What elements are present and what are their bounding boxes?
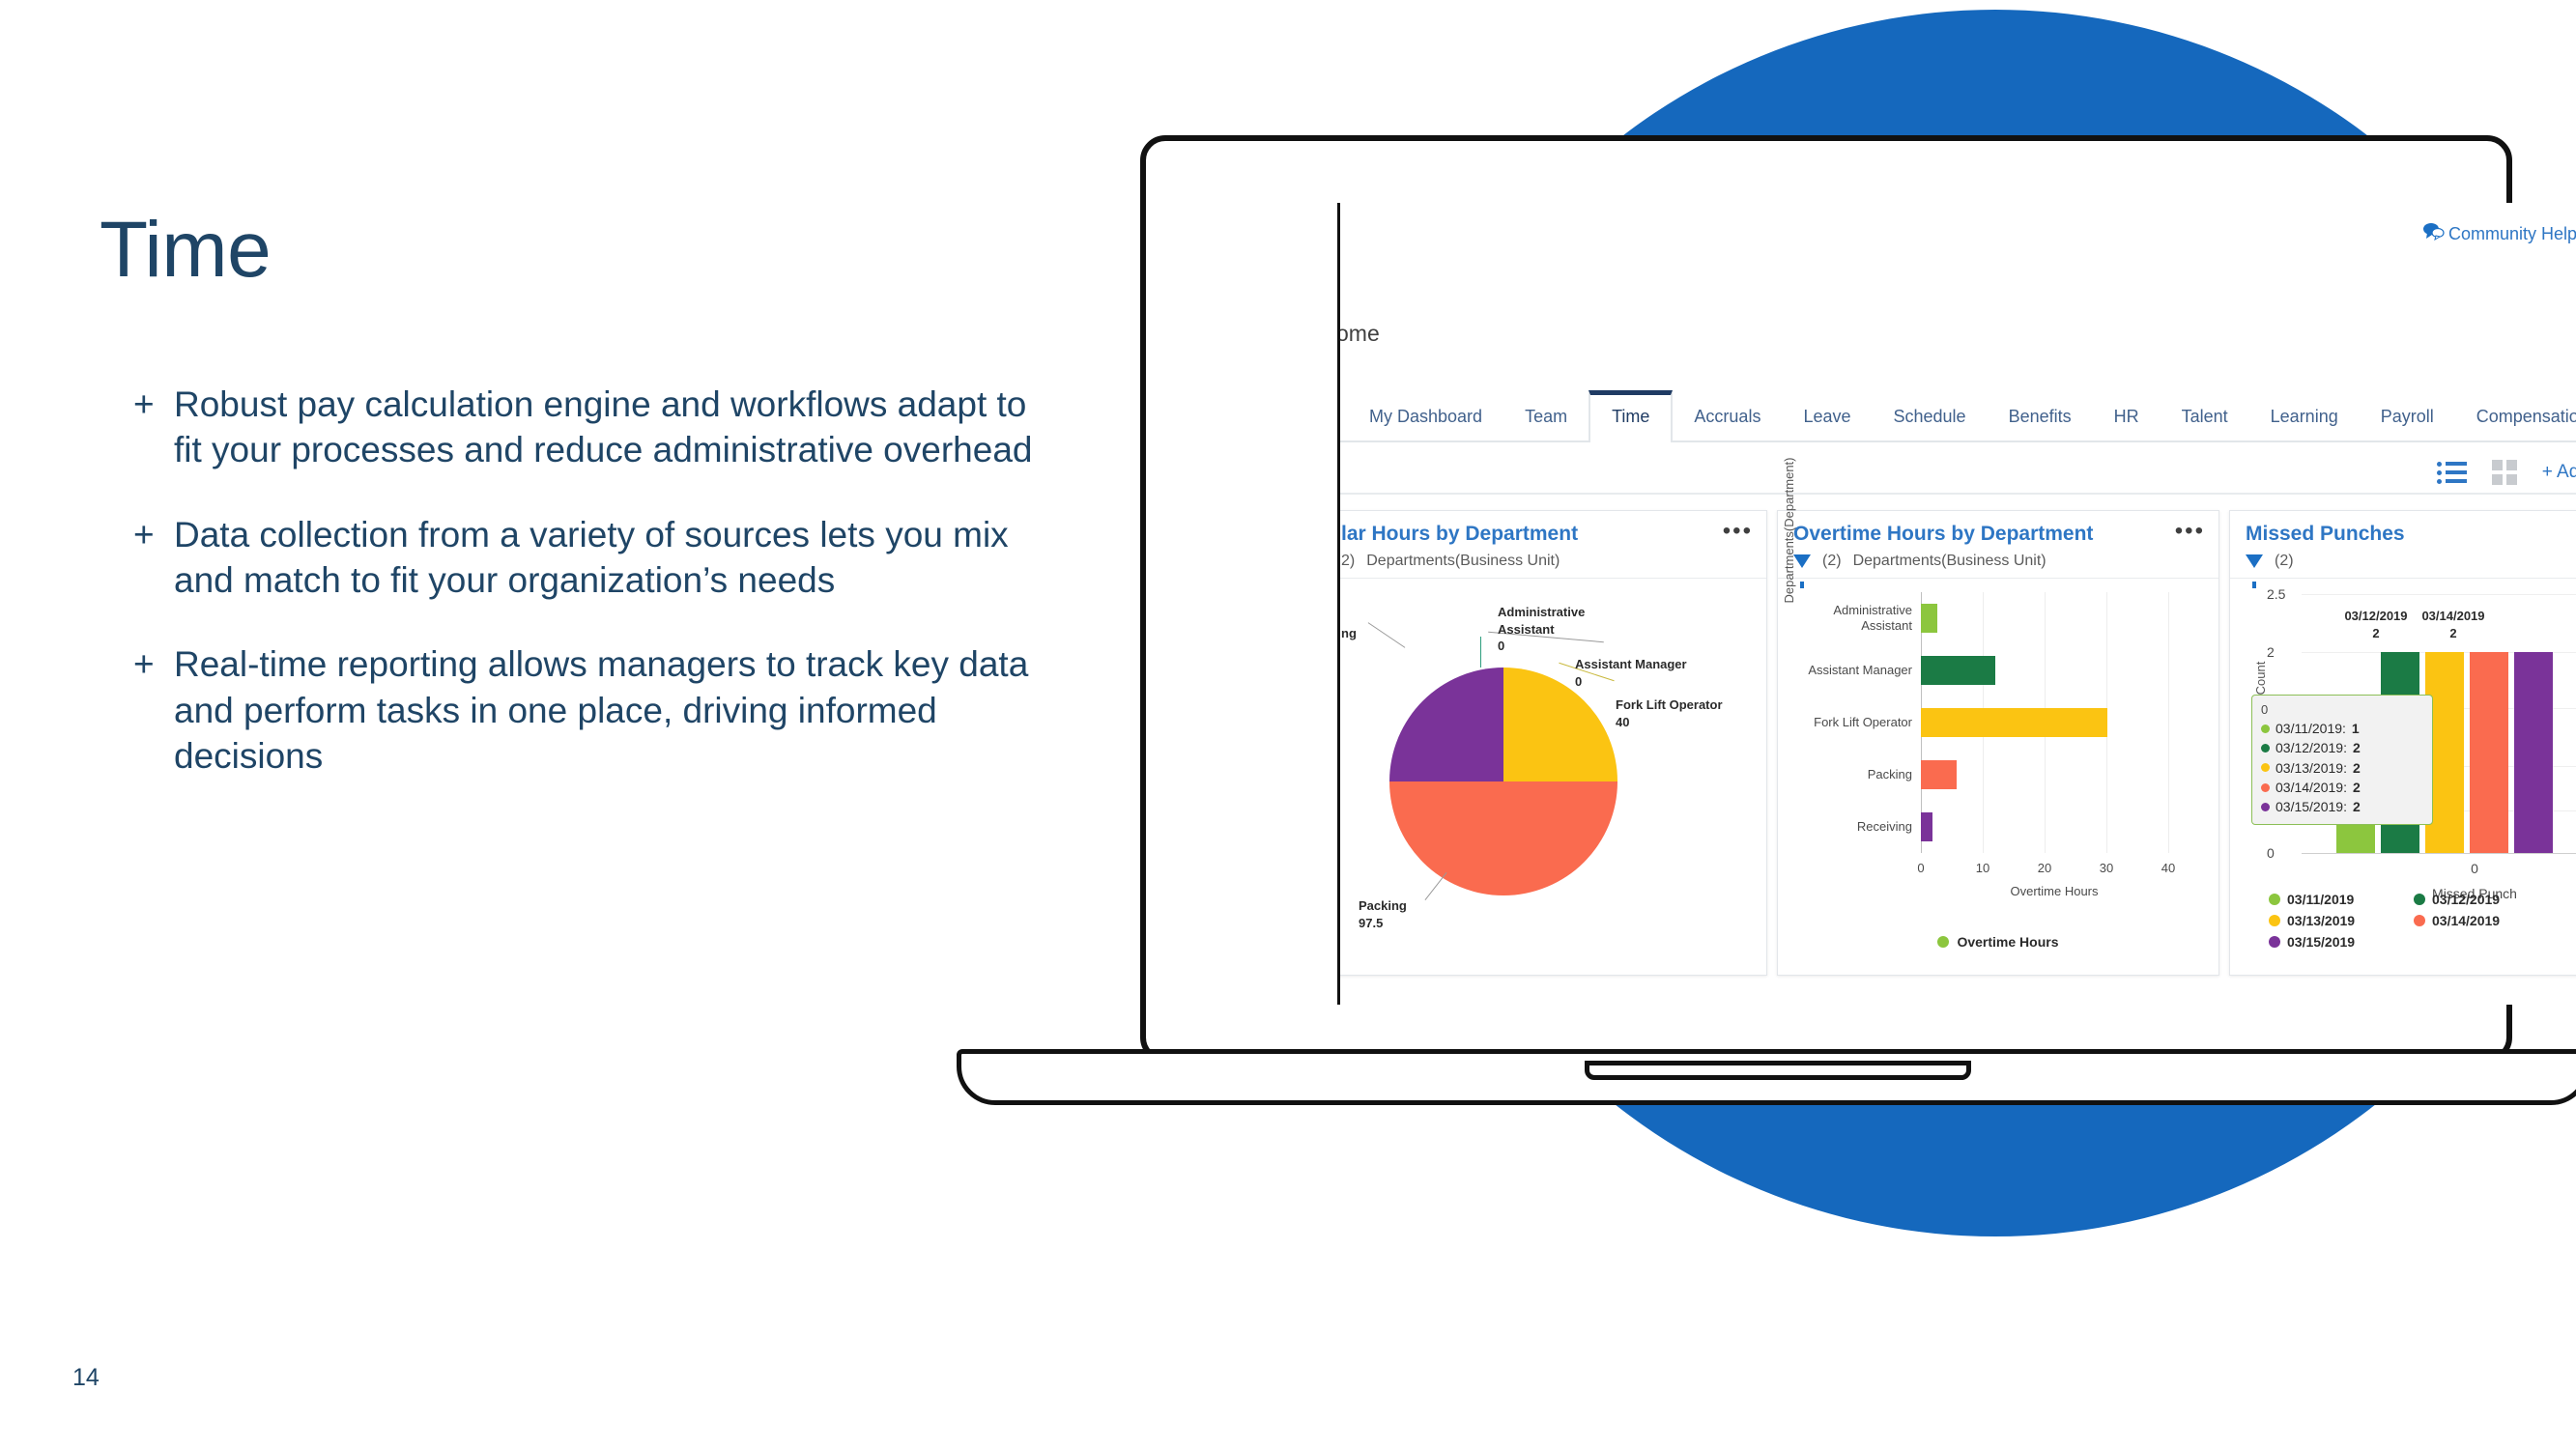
x-tick: 40 [2161,861,2175,875]
breadcrumb: ome [1337,321,1380,347]
filter-count: 2) [1341,553,1355,570]
card-header: lar Hours by Department 2) Departments(B… [1337,511,1766,578]
card-more-icon[interactable]: ••• [1723,525,1753,538]
card-header: Missed Punches (2) [2230,511,2576,578]
bar-row: Assistant Manager [1807,644,2213,696]
legend-label: Overtime Hours [1957,934,2058,950]
tooltip-row: 03/11/2019:1 [2261,719,2423,738]
filter-count: (2) [2275,553,2294,570]
page-number: 14 [72,1364,100,1392]
overtime-bar-chart: Departments(Department) Administrative A… [1778,579,2218,963]
tab-benefits[interactable]: Benefits [1988,407,2093,440]
x-tick: 0 [1917,861,1924,875]
tab-time[interactable]: Time [1589,390,1673,442]
page-title: Time [100,211,271,290]
pie-label-receiving: ng [1341,625,1357,642]
laptop-screen: Community Help 26 [1337,203,2576,1005]
bar [1921,708,2107,737]
y-tick: 2.5 [2267,586,2285,602]
tooltip-title: 0 [2261,702,2423,717]
card-header: Overtime Hours by Department (2) Departm… [1778,511,2218,578]
card-filter-row: (2) [2246,553,2576,570]
chart-cards-row: lar Hours by Department 2) Departments(B… [1337,510,2576,976]
legend-item: 03/15/2019 [2269,934,2414,950]
chart-tooltip: 0 03/11/2019:1 03/12/2019:2 03/13/2019:2… [2251,695,2433,825]
bar-label: Assistant Manager [1807,663,1921,678]
x-axis-label: Overtime Hours [1921,884,2188,898]
bar-row: Fork Lift Operator [1807,696,2213,749]
pie-graphic [1389,668,1617,895]
chart-toolbar: + Add Chart •• [2437,452,2576,493]
y-tick: 0 [2267,845,2275,861]
app-topbar: Community Help 26 [2422,214,2576,253]
chat-bubble-icon [2422,222,2446,245]
bullet-marker: + [114,512,174,604]
chart-legend: Overtime Hours [1778,934,2218,950]
tooltip-row: 03/13/2019:2 [2261,758,2423,778]
bar-label: Fork Lift Operator [1807,715,1921,730]
x-axis-line [2302,853,2576,854]
nav-tabs: My Dashboard Team Time Accruals Leave Sc… [1337,389,2576,442]
bar-label: Packing [1807,767,1921,782]
pie-label-assistant-manager: Assistant Manager0 [1575,656,1701,690]
bar [1921,656,1995,685]
tab-my-dashboard[interactable]: My Dashboard [1348,407,1503,440]
card-more-icon[interactable]: ••• [2175,525,2205,538]
bullet-text: Data collection from a variety of source… [174,512,1042,604]
bar [2470,652,2508,853]
leader-line [1425,872,1447,900]
laptop-mockup: Community Help 26 [966,135,2338,1082]
card-filter-row: 2) Departments(Business Unit) [1341,553,1751,570]
bullet-list: + Robust pay calculation engine and work… [114,382,1042,818]
x-tick: 30 [2100,861,2113,875]
x-tick: 20 [2038,861,2051,875]
tab-team[interactable]: Team [1503,407,1589,440]
tab-schedule[interactable]: Schedule [1873,407,1988,440]
bar-row: Packing [1807,749,2213,801]
pie-chart: Administrative Assistant0 Assistant Mana… [1337,579,1766,963]
missed-punches-bar-chart: Row Count 2.5 2 1.5 0.5 0 [2230,579,2576,963]
bar-label: Administrative Assistant [1807,603,1921,633]
tab-compensation[interactable]: Compensation [2455,407,2576,440]
card-title: Missed Punches [2246,523,2576,546]
bar-row: Administrative Assistant [1807,592,2213,644]
x-axis-ticks: 0 10 20 30 40 [1921,861,2188,880]
toolbar-divider [1337,493,2576,495]
tab-accruals[interactable]: Accruals [1673,407,1782,440]
bullet-text: Real-time reporting allows managers to t… [174,641,1042,779]
x-tick: 10 [1976,861,1989,875]
bullet-marker: + [114,382,174,473]
bullet-marker: + [114,641,174,779]
card-title: Overtime Hours by Department [1793,523,2203,546]
pie-label-fork-lift-operator: Fork Lift Operator40 [1616,696,1751,730]
filter-count: (2) [1822,553,1842,570]
list-item: + Robust pay calculation engine and work… [114,382,1042,473]
legend-dot [1937,936,1949,948]
bar [1921,604,1937,633]
tooltip-row: 03/12/2019:2 [2261,738,2423,757]
list-view-icon[interactable] [2437,462,2467,484]
y-axis-label: Departments(Department) [1782,424,1796,637]
card-regular-hours[interactable]: lar Hours by Department 2) Departments(B… [1337,510,1767,976]
pie-label-packing: Packing97.5 [1359,897,1474,931]
legend-item: 03/11/2019 [2269,892,2414,907]
tooltip-row: 03/14/2019:2 [2261,778,2423,797]
community-help-link[interactable]: Community Help [2422,222,2576,245]
leader-line [1480,637,1482,668]
card-missed-punches[interactable]: Missed Punches (2) ••• Row Count 2.5 [2229,510,2576,976]
tab-talent[interactable]: Talent [2161,407,2249,440]
bar [2514,652,2553,853]
filter-label: Departments(Business Unit) [1853,553,2046,570]
pie-label-administrative-assistant: Administrative Assistant0 [1498,604,1643,655]
legend-item: 03/13/2019 [2269,913,2414,928]
y-tick: 2 [2267,644,2275,660]
tab-hr[interactable]: HR [2093,407,2161,440]
card-title: lar Hours by Department [1341,523,1751,546]
bar [1921,760,1957,789]
laptop-lid: Community Help 26 [1140,135,2512,1063]
legend-item: 03/14/2019 [2414,913,2559,928]
legend-item: 03/12/2019 [2414,892,2559,907]
laptop-trackpad-notch [1585,1061,1971,1080]
list-item: + Real-time reporting allows managers to… [114,641,1042,779]
filter-icon[interactable] [2246,554,2263,568]
card-overtime-hours[interactable]: Overtime Hours by Department (2) Departm… [1777,510,2219,976]
chart-legend: 03/11/2019 03/12/2019 03/13/2019 03/14/2… [2269,892,2576,955]
bar [1921,812,1932,841]
bar-row: Receiving [1807,801,2213,853]
tab-learning[interactable]: Learning [2249,407,2360,440]
hr-dashboard-app: Community Help 26 [1337,203,2576,1005]
add-chart-button[interactable]: + Add Chart [2542,462,2576,483]
tooltip-row: 03/15/2019:2 [2261,797,2423,816]
leader-line [1368,622,1406,648]
filter-label: Departments(Business Unit) [1366,553,1560,570]
x-tick: 0 [2315,861,2576,876]
card-filter-row: (2) Departments(Business Unit) [1793,553,2203,570]
tab-payroll[interactable]: Payroll [2360,407,2455,440]
bar-rows: Administrative Assistant Assistant Manag… [1807,592,2213,853]
bar-label: Receiving [1807,819,1921,835]
community-help-label: Community Help [2448,224,2576,244]
grid-view-icon[interactable] [2492,460,2517,485]
list-item: + Data collection from a variety of sour… [114,512,1042,604]
bullet-text: Robust pay calculation engine and workfl… [174,382,1042,473]
